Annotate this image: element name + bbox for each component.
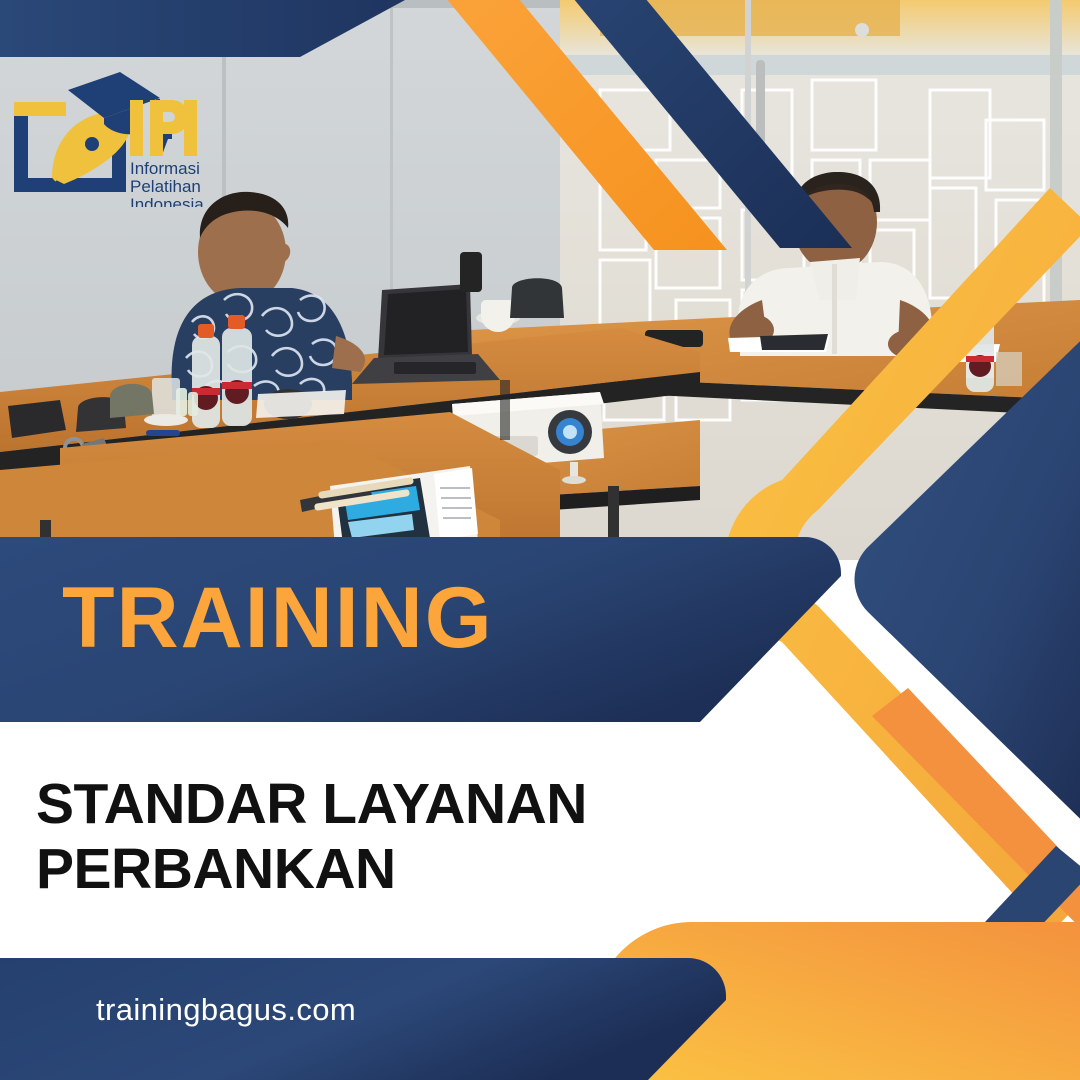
page-title-line-1: STANDAR LAYANAN: [36, 772, 676, 837]
training-banner-label: TRAINING: [62, 575, 494, 661]
svg-text:Pelatihan: Pelatihan: [130, 177, 201, 196]
svg-text:Informasi: Informasi: [130, 159, 200, 178]
logo-tagline: Informasi Pelatihan Indonesia: [130, 159, 204, 207]
page-title: STANDAR LAYANAN PERBANKAN: [36, 772, 676, 902]
bottom-orange-block: [592, 922, 1080, 1080]
page-title-line-2: PERBANKAN: [36, 837, 676, 902]
logo-cap-top: [68, 72, 160, 118]
navy-thin-stripe-bottom: [858, 846, 1080, 1080]
svg-text:Indonesia: Indonesia: [130, 195, 204, 207]
orange-thin-stripe-1: [872, 688, 1080, 952]
poster-canvas: Informasi Pelatihan Indonesia: [0, 0, 1080, 1080]
ipi-logo-mark: Informasi Pelatihan Indonesia: [8, 72, 224, 207]
logo-nib-hole: [85, 137, 99, 151]
ipi-logo: Informasi Pelatihan Indonesia: [8, 72, 224, 207]
website-url[interactable]: trainingbagus.com: [96, 992, 356, 1028]
